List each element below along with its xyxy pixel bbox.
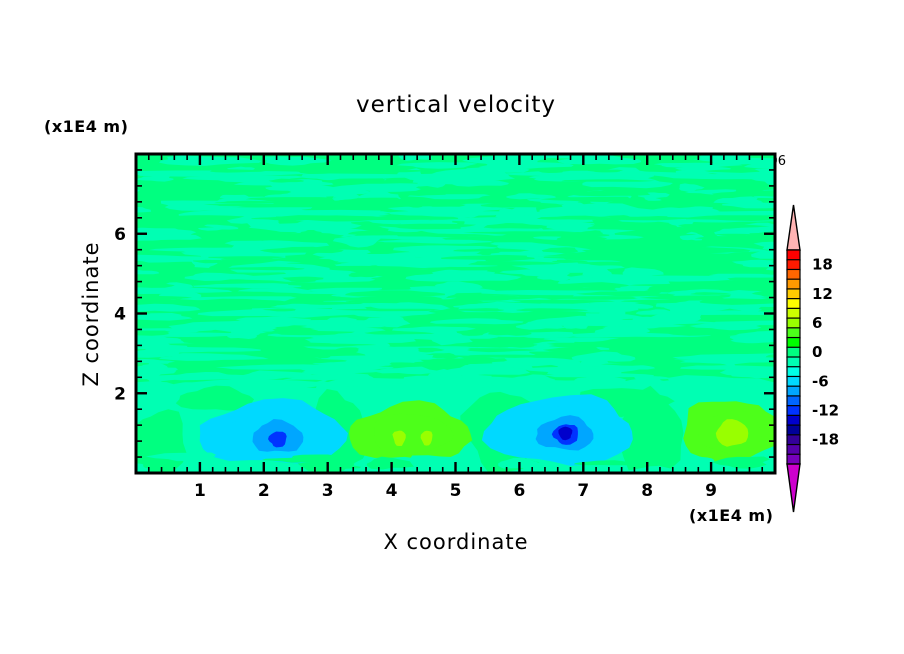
y-tick-label: 6 xyxy=(114,225,126,245)
colorbar-swatch xyxy=(787,269,800,279)
colorbar-swatch xyxy=(787,406,800,416)
colorbar-swatch xyxy=(787,299,800,309)
colorbar-swatch xyxy=(787,318,800,328)
x-tick-label: 6 xyxy=(513,481,525,501)
colorbar-swatch xyxy=(787,338,800,348)
colorbar-swatch xyxy=(787,454,800,464)
colorbar-tick-label: 0 xyxy=(812,343,822,361)
x-axis-unit-label: (x1E4 m) xyxy=(689,506,773,525)
y-axis-label: Z coordinate xyxy=(79,241,103,386)
y-tick-label: 2 xyxy=(114,384,126,404)
colorbar-swatch xyxy=(787,328,800,338)
colorbar-swatch xyxy=(787,260,800,270)
colorbar-swatch xyxy=(787,308,800,318)
x-tick-label: 3 xyxy=(322,481,334,501)
colorbar-swatch xyxy=(787,279,800,289)
contour-plot-figure: vertical velocity (x1E4 m) (x1E4 m) t=3.… xyxy=(0,0,904,654)
x-tick-label: 1 xyxy=(194,481,206,501)
x-tick-label: 2 xyxy=(258,481,270,501)
colorbar-tick-label: 6 xyxy=(812,314,822,332)
page-title: vertical velocity xyxy=(356,92,556,118)
colorbar-swatch xyxy=(787,396,800,406)
colorbar-swatch xyxy=(787,376,800,386)
colorbar-tick-label: 18 xyxy=(812,256,833,274)
colorbar-swatch xyxy=(787,435,800,445)
x-tick-label: 7 xyxy=(577,481,589,501)
colorbar-tick-label: -18 xyxy=(812,431,839,449)
colorbar-tick-label: 12 xyxy=(812,285,833,303)
colorbar-swatch xyxy=(787,357,800,367)
x-tick-label: 5 xyxy=(450,481,462,501)
colorbar-swatch xyxy=(787,445,800,455)
colorbar-swatch xyxy=(787,289,800,299)
colorbar-swatch xyxy=(787,386,800,396)
colorbar-tick-label: -6 xyxy=(812,372,829,390)
y-axis-unit-label: (x1E4 m) xyxy=(44,117,128,136)
colorbar-swatch xyxy=(787,415,800,425)
colorbar-swatch xyxy=(787,367,800,377)
y-tick-label: 4 xyxy=(114,305,126,325)
colorbar-swatch xyxy=(787,250,800,260)
colorbar-swatch xyxy=(787,347,800,357)
colorbar-tick-label: -12 xyxy=(812,402,839,420)
x-tick-label: 8 xyxy=(641,481,653,501)
x-axis-label: X coordinate xyxy=(383,530,528,554)
x-tick-label: 9 xyxy=(705,481,717,501)
x-tick-label: 4 xyxy=(386,481,398,501)
colorbar-swatch xyxy=(787,425,800,435)
